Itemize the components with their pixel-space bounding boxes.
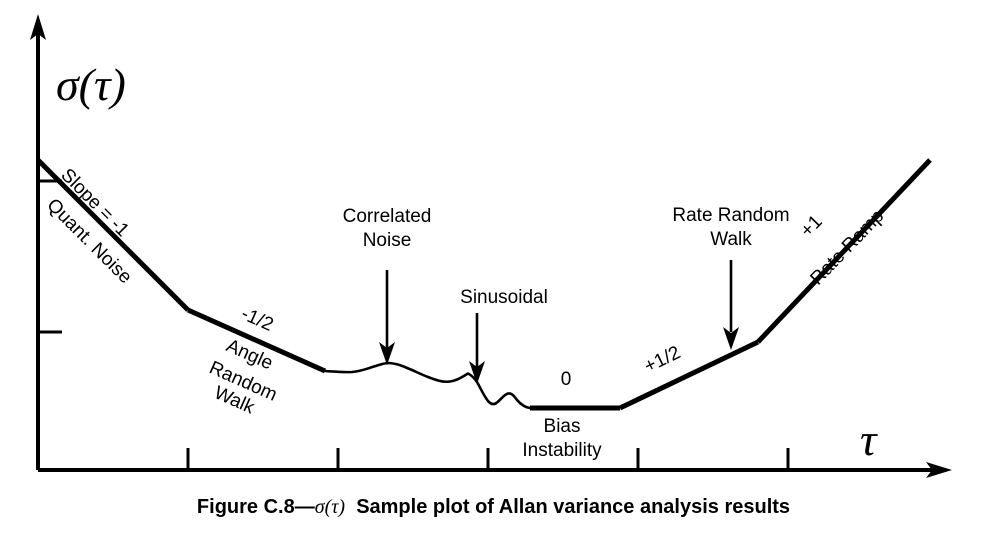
correlated-noise-label-line2: Noise — [363, 230, 412, 251]
slope-zero-label: 0 — [561, 369, 572, 390]
correlated-noise-label-line1: Correlated — [343, 206, 432, 227]
caption-space — [345, 496, 356, 518]
bias-instability-label-line1: Bias — [544, 416, 581, 437]
bias-instability-label-line2: Instability — [522, 440, 602, 461]
slope-minus-half-label: -1/2 — [238, 303, 276, 336]
sinusoidal-label: Sinusoidal — [460, 287, 548, 308]
allan-variance-plot: σ(τ) τ — [0, 0, 987, 545]
caption-prefix: Figure C.8 — [197, 496, 295, 518]
rate-random-walk-label-line2: Walk — [710, 229, 752, 250]
y-axis-label: σ(τ) — [56, 59, 126, 110]
slope-plus-one-label: +1 — [796, 211, 826, 241]
annotation-labels: Correlated Noise Sinusoidal Rate Random … — [42, 165, 888, 461]
rate-random-walk-label-line1: Rate Random — [672, 205, 789, 226]
curve-segment-correlated-sinusoidal — [325, 363, 530, 408]
slope-plus-half-label: +1/2 — [641, 342, 684, 377]
caption-dash: — — [295, 496, 315, 518]
caption-line: Figure C.8—σ(τ) Sample plot of Allan var… — [197, 496, 790, 518]
annotation-arrows — [379, 260, 739, 384]
caption-sigma-symbol: σ(τ) — [315, 496, 345, 518]
allan-variance-figure: σ(τ) τ — [0, 0, 987, 545]
curve-segment-rate-random-walk — [620, 342, 758, 408]
axes-group — [30, 14, 952, 478]
allan-deviation-curve — [38, 160, 930, 408]
figure-caption: Figure C.8—σ(τ) Sample plot of Allan var… — [0, 496, 987, 519]
x-axis-label: τ — [860, 414, 878, 465]
caption-rest: Sample plot of Allan variance analysis r… — [356, 496, 790, 518]
